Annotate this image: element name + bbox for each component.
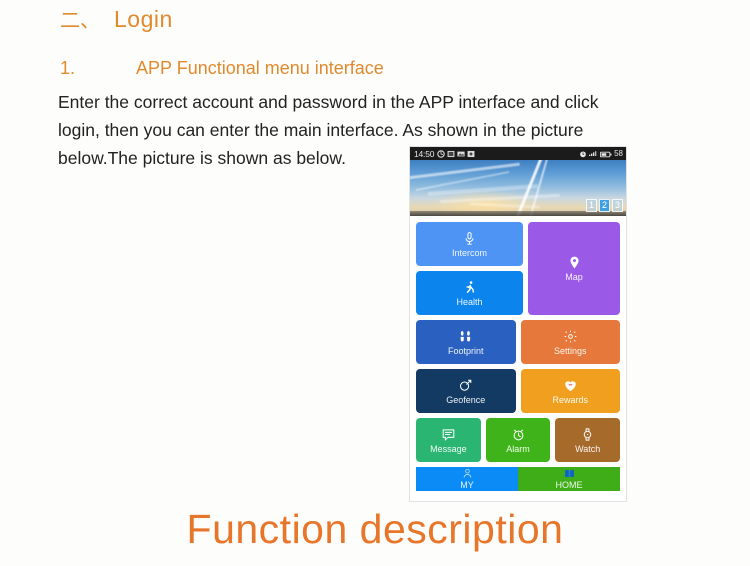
tile-row: Message Alarm Watch (416, 418, 620, 462)
tile-alarm[interactable]: Alarm (486, 418, 551, 462)
tile-label: Rewards (552, 395, 588, 405)
tile-rewards[interactable]: Rewards (521, 369, 621, 413)
tile-watch[interactable]: Watch (555, 418, 620, 462)
subsection-title: APP Functional menu interface (136, 58, 384, 78)
tile-label: Intercom (452, 248, 487, 258)
location-pin-icon (567, 255, 582, 270)
battery-level-label: 58 (614, 149, 623, 158)
nav-label: HOME (556, 480, 583, 490)
alarm-icon (579, 150, 587, 158)
book-icon (564, 468, 575, 479)
tile-settings[interactable]: Settings (521, 320, 621, 364)
tile-label: Watch (575, 444, 600, 454)
app-icon (467, 150, 475, 158)
page-dot-3[interactable]: 3 (612, 199, 623, 212)
subsection-heading: 1.APP Functional menu interface (60, 58, 384, 79)
tile-intercom[interactable]: Intercom (416, 222, 523, 266)
status-bar: 14:50 58 (410, 147, 626, 160)
gallery-icon (457, 150, 465, 158)
tile-geofence[interactable]: Geofence (416, 369, 516, 413)
tile-row: Geofence Rewards (416, 369, 620, 413)
tile-map[interactable]: Map (528, 222, 620, 315)
page-big-title: Function description (0, 506, 750, 553)
section-title: Login (114, 6, 173, 32)
subsection-number: 1. (60, 58, 136, 79)
tile-label: Footprint (448, 346, 484, 356)
running-person-icon (462, 280, 477, 295)
tile-message[interactable]: Message (416, 418, 481, 462)
tile-label: Geofence (446, 395, 485, 405)
phone-screenshot: 14:50 58 (409, 146, 627, 502)
status-clock: 14:50 (414, 149, 434, 159)
gear-icon (563, 329, 578, 344)
nav-item-my[interactable]: MY (416, 467, 518, 491)
paragraph-line: login, then you can enter the main inter… (58, 116, 718, 144)
tile-label: Health (456, 297, 482, 307)
tile-label: Alarm (506, 444, 530, 454)
smartwatch-icon (580, 427, 595, 442)
tile-label: Map (565, 272, 583, 282)
signal-icon (589, 150, 597, 158)
tile-row: Intercom Health Map (416, 222, 620, 315)
app-tile-grid: Intercom Health Map (410, 216, 626, 462)
footprints-icon (458, 329, 473, 344)
wallpaper: 1 2 3 (410, 160, 626, 216)
bottom-nav-bar: MY HOME (416, 467, 620, 491)
alarm-clock-icon (511, 427, 526, 442)
section-enumeration: 二、 (60, 10, 100, 32)
page-dot-2[interactable]: 2 (599, 199, 610, 212)
heart-icon (563, 378, 578, 393)
nav-label: MY (460, 480, 474, 490)
paragraph-line: Enter the correct account and password i… (58, 88, 718, 116)
sync-icon (437, 150, 445, 158)
microphone-icon (462, 231, 477, 246)
tile-label: Message (430, 444, 467, 454)
page-indicator[interactable]: 1 2 3 (586, 199, 623, 212)
nav-item-home[interactable]: HOME (518, 467, 620, 491)
geofence-icon (458, 378, 473, 393)
photo-icon (447, 150, 455, 158)
page-dot-1[interactable]: 1 (586, 199, 597, 212)
tile-label: Settings (554, 346, 587, 356)
status-right-icons: 58 (579, 149, 623, 158)
battery-icon (600, 150, 612, 158)
section-heading: 二、Login (60, 4, 173, 33)
person-icon (462, 468, 473, 479)
chat-bubble-icon (441, 427, 456, 442)
status-left-icons (437, 150, 475, 158)
tile-row: Footprint Settings (416, 320, 620, 364)
tile-column-left: Intercom Health (416, 222, 523, 315)
tile-footprint[interactable]: Footprint (416, 320, 516, 364)
tile-health[interactable]: Health (416, 271, 523, 315)
